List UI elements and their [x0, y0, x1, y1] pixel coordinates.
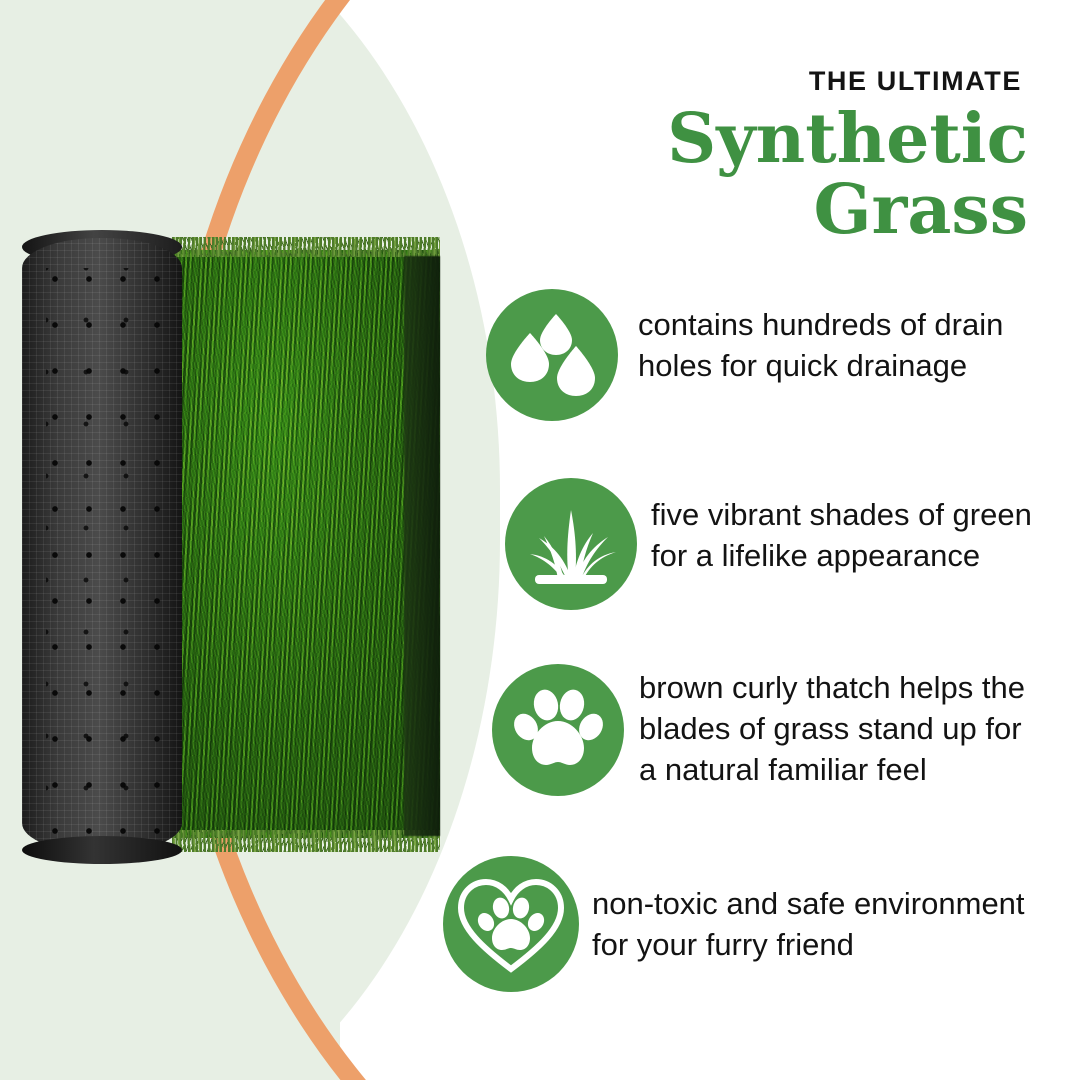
infographic-canvas: THE ULTIMATE Synthetic Grass contains hu… — [0, 0, 1080, 1080]
product-image — [0, 238, 450, 863]
feature-text-shades: five vibrant shades of green for a lifel… — [651, 495, 1080, 577]
eyebrow-text: THE ULTIMATE — [809, 66, 1022, 97]
grass-panel-edge — [404, 256, 440, 836]
feature-text-thatch: brown curly thatch helps the blades of g… — [639, 668, 1063, 791]
page-title-line-1: Synthetic — [468, 104, 1028, 175]
backing-roll — [22, 238, 182, 853]
page-title: Synthetic Grass — [468, 104, 1028, 245]
grass-turf-panel — [172, 250, 440, 838]
feature-text-nontoxic: non-toxic and safe environment for your … — [592, 884, 1072, 966]
page-title-line-2: Grass — [468, 175, 1028, 246]
feature-text-drainage: contains hundreds of drain holes for qui… — [638, 305, 1068, 387]
heart-paw-icon — [443, 856, 579, 992]
drain-holes-pattern-secondary — [46, 268, 158, 827]
water-drops-icon — [486, 289, 618, 421]
grass-blades-icon — [505, 478, 637, 610]
roll-bottom-cap — [22, 836, 182, 864]
paw-print-icon — [492, 664, 624, 796]
